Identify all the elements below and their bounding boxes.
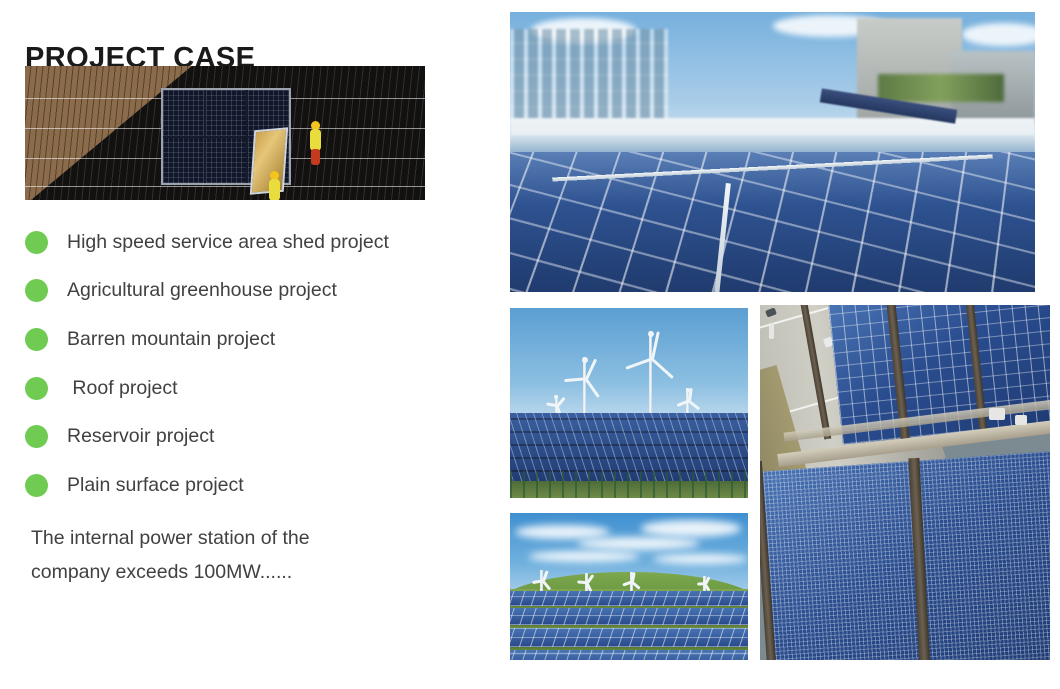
cloud — [577, 537, 701, 550]
wind-turbine — [624, 572, 638, 591]
wind-solar-farm-photo — [510, 308, 748, 498]
foreground-solar-panels — [510, 152, 1035, 292]
crew-group-left — [647, 46, 763, 130]
wind-turbine — [572, 357, 598, 418]
worker-center — [799, 46, 852, 130]
roof-equipment — [989, 408, 1005, 420]
aerial-rooftop-solar-photo — [760, 305, 1050, 660]
wind-turbine — [634, 331, 668, 418]
perimeter-fence — [510, 471, 748, 498]
solar-panel-rows — [510, 591, 748, 660]
cloud — [641, 520, 741, 536]
glass-building — [510, 29, 668, 124]
cloud — [529, 551, 638, 561]
rooftop-crew-photo — [510, 12, 1035, 292]
photo-gallery — [0, 0, 1060, 689]
wind-turbine — [579, 573, 593, 591]
roof-equipment — [1015, 415, 1027, 425]
solar-roof-section — [760, 451, 1050, 660]
hillside-solar-photo — [510, 513, 748, 660]
cloud — [962, 23, 1036, 45]
wind-turbine — [698, 576, 710, 591]
sky — [510, 308, 748, 418]
street-pole — [769, 323, 774, 339]
wind-turbine — [534, 570, 550, 591]
